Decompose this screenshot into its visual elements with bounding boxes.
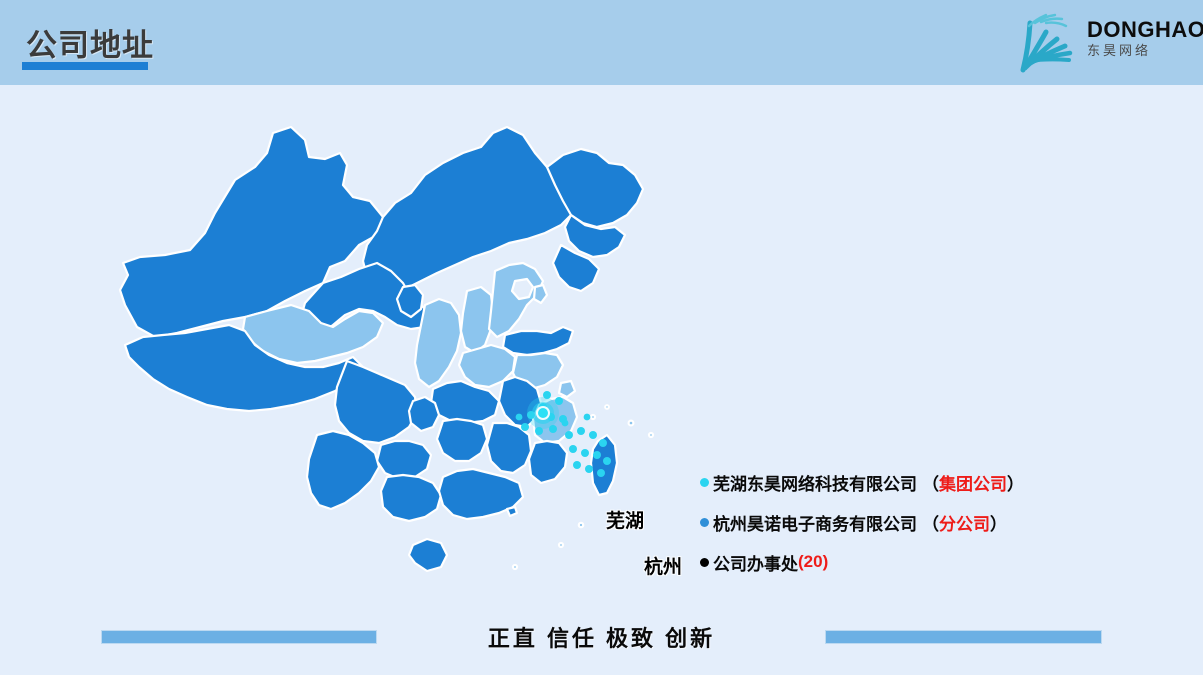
tag-text: 20 xyxy=(804,552,823,571)
tag-text: 集团公司 xyxy=(939,475,1007,494)
province-shandong xyxy=(503,327,573,355)
tag-paren-close: ) xyxy=(823,552,829,571)
legend-item-branch-company: 杭州昊诺电子商务有限公司 （分公司） xyxy=(700,502,1120,542)
legend-bullet-blue-icon xyxy=(700,518,709,527)
province-guizhou xyxy=(377,441,431,479)
map-label-hangzhou: 杭州 xyxy=(644,552,682,579)
tag-paren-open: （ xyxy=(922,515,939,534)
province-tianjin xyxy=(534,285,547,303)
logo-name: DONGHAO xyxy=(1087,18,1189,42)
legend-company-name: 杭州昊诺电子商务有限公司 xyxy=(713,510,917,535)
tag-paren-close: ） xyxy=(1007,475,1024,494)
tag-paren-open: （ xyxy=(922,475,939,494)
map-label-wuhu: 芜湖 xyxy=(606,506,644,533)
island-dot xyxy=(629,421,634,426)
island-dot xyxy=(591,415,595,419)
province-guangxi xyxy=(381,475,441,521)
title-underline xyxy=(22,62,148,70)
tag-text: 分公司 xyxy=(939,515,990,534)
legend-company-tag: （分公司） xyxy=(922,510,1007,535)
island-dot xyxy=(579,523,583,527)
headquarters-marker-wuhu xyxy=(527,397,559,429)
island-dot xyxy=(649,433,653,437)
footer-tagline: 正直 信任 极致 创新 xyxy=(0,621,1203,653)
legend-item-group-company: 芜湖东昊网络科技有限公司 （集团公司） xyxy=(700,462,1120,502)
legend-bullet-black-icon xyxy=(700,558,709,567)
logo-text: DONGHAO 东昊网络 xyxy=(1087,18,1189,60)
island-dot xyxy=(559,543,563,547)
legend-bullet-cyan-icon xyxy=(700,478,709,487)
company-logo: DONGHAO 东昊网络 xyxy=(1013,8,1189,76)
legend-company-tag: （集团公司） xyxy=(922,470,1024,495)
page-header: 公司地址 DONGHAO xyxy=(0,0,1203,85)
legend: 芜湖东昊网络科技有限公司 （集团公司） 杭州昊诺电子商务有限公司 （分公司） 公… xyxy=(700,462,1120,582)
province-inner-mongolia xyxy=(363,127,573,295)
donghao-wing-icon xyxy=(1013,10,1087,74)
province-shanxi xyxy=(461,287,493,353)
page-title: 公司地址 xyxy=(26,20,154,65)
legend-company-name: 芜湖东昊网络科技有限公司 xyxy=(713,470,917,495)
logo-subtitle: 东昊网络 xyxy=(1087,42,1189,60)
legend-item-offices: 公司办事处 (20) xyxy=(700,542,1120,582)
province-beijing xyxy=(512,279,533,299)
legend-company-name: 公司办事处 xyxy=(713,550,798,575)
province-chongqing xyxy=(409,397,439,431)
island-dot xyxy=(513,565,517,569)
province-sichuan xyxy=(335,361,417,443)
province-hainan xyxy=(409,539,447,571)
legend-office-count: (20) xyxy=(798,552,828,572)
province-fujian xyxy=(529,441,567,483)
tag-paren-close: ） xyxy=(990,515,1007,534)
province-shanghai xyxy=(559,381,575,397)
province-hunan xyxy=(437,419,487,461)
island-dot xyxy=(605,405,609,409)
china-map: 芜湖 杭州 xyxy=(95,105,715,605)
region-hongkong xyxy=(507,507,517,516)
